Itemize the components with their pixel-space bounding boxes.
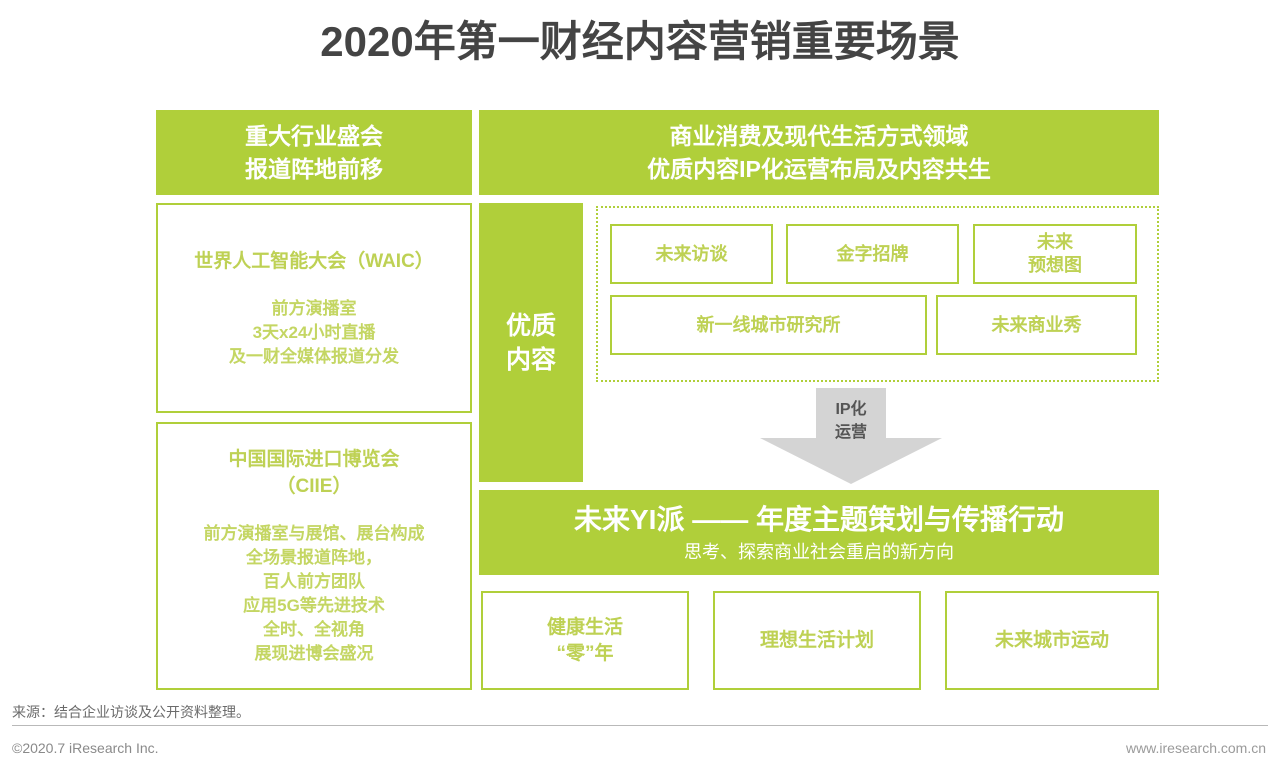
header-right-line1: 商业消费及现代生活方式领域 [670, 120, 969, 153]
campaign-box-label: 未来城市运动 [995, 628, 1109, 654]
ciie-body-line-2: 全场景报道阵地， [246, 546, 382, 570]
content-box-golden-brand[interactable]: 金字招牌 [786, 224, 959, 284]
content-box-future-business-show[interactable]: 未来商业秀 [936, 295, 1137, 355]
ciie-body-line-3: 百人前方团队 [263, 570, 365, 594]
content-box-label: 未来访谈 [656, 243, 728, 266]
future-yi-banner: 未来YI派 —— 年度主题策划与传播行动 思考、探索商业社会重启的新方向 [479, 490, 1159, 575]
quality-content-block: 优质 内容 [479, 203, 583, 482]
campaign-box-label: 理想生活计划 [760, 628, 874, 654]
content-box-label-line2: 预想图 [1028, 254, 1082, 277]
content-box-label: 未来商业秀 [992, 314, 1082, 337]
quality-content-line2: 内容 [506, 343, 556, 377]
content-box-new-tier1-city-institute[interactable]: 新一线城市研究所 [610, 295, 927, 355]
campaign-box-ideal-life-plan[interactable]: 理想生活计划 [713, 591, 921, 690]
ciie-body-line-5: 全时、全视角 [263, 618, 365, 642]
header-left-line1: 重大行业盛会 [245, 120, 383, 153]
future-yi-subtitle: 思考、探索商业社会重启的新方向 [684, 539, 954, 565]
footer-divider [12, 725, 1268, 726]
content-box-future-interview[interactable]: 未来访谈 [610, 224, 773, 284]
campaign-box-healthy-living[interactable]: 健康生活 “零”年 [481, 591, 689, 690]
content-box-future-vision[interactable]: 未来 预想图 [973, 224, 1137, 284]
future-yi-title: 未来YI派 —— 年度主题策划与传播行动 [574, 501, 1064, 539]
content-box-label: 新一线城市研究所 [697, 314, 841, 337]
copyright-text: ©2020.7 iResearch Inc. [12, 738, 159, 758]
header-bar-left: 重大行业盛会 报道阵地前移 [156, 110, 472, 195]
ciie-heading-line-1: 中国国际进口博览会 [228, 446, 399, 473]
scenario-box-ciie[interactable]: 中国国际进口博览会 （CIIE） 前方演播室与展馆、展台构成 全场景报道阵地， … [156, 422, 472, 690]
ciie-body-line-4: 应用5G等先进技术 [243, 594, 385, 618]
content-box-label: 金字招牌 [837, 243, 909, 266]
arrow-down-icon [760, 388, 942, 484]
header-left-line2: 报道阵地前移 [245, 153, 383, 186]
content-ip-group-inner: 未来访谈 金字招牌 未来 预想图 新一线城市研究所 未来商业秀 [598, 208, 1157, 380]
waic-body-line-3: 及一财全媒体报道分发 [229, 345, 399, 369]
waic-body-line-1: 前方演播室 [272, 297, 357, 321]
content-box-label-line1: 未来 [1037, 231, 1073, 254]
website-url: www.iresearch.com.cn [1126, 738, 1266, 758]
waic-heading: 世界人工智能大会（WAIC） [194, 248, 434, 275]
ciie-body-line-1: 前方演播室与展馆、展台构成 [204, 522, 425, 546]
campaign-box-future-city-movement[interactable]: 未来城市运动 [945, 591, 1159, 690]
scenario-box-waic[interactable]: 世界人工智能大会（WAIC） 前方演播室 3天x24小时直播 及一财全媒体报道分… [156, 203, 472, 413]
header-right-line2: 优质内容IP化运营布局及内容共生 [647, 153, 991, 186]
source-note: 来源：结合企业访谈及公开资料整理。 [12, 702, 250, 722]
quality-content-line1: 优质 [506, 309, 556, 343]
campaign-box-label-line1: 健康生活 [547, 615, 623, 641]
ip-operation-arrow: IP化 运营 [760, 388, 942, 484]
waic-body-line-2: 3天x24小时直播 [253, 321, 376, 345]
page-title: 2020年第一财经内容营销重要场景 [0, 14, 1280, 70]
ciie-body-line-6: 展现进博会盛况 [255, 642, 374, 666]
ciie-heading-line-2: （CIIE） [277, 473, 352, 500]
content-ip-group: 未来访谈 金字招牌 未来 预想图 新一线城市研究所 未来商业秀 [596, 206, 1159, 382]
infographic-page: 2020年第一财经内容营销重要场景 重大行业盛会 报道阵地前移 商业消费及现代生… [0, 0, 1280, 771]
campaign-box-label-line2: “零”年 [556, 641, 613, 667]
header-bar-right: 商业消费及现代生活方式领域 优质内容IP化运营布局及内容共生 [479, 110, 1159, 195]
